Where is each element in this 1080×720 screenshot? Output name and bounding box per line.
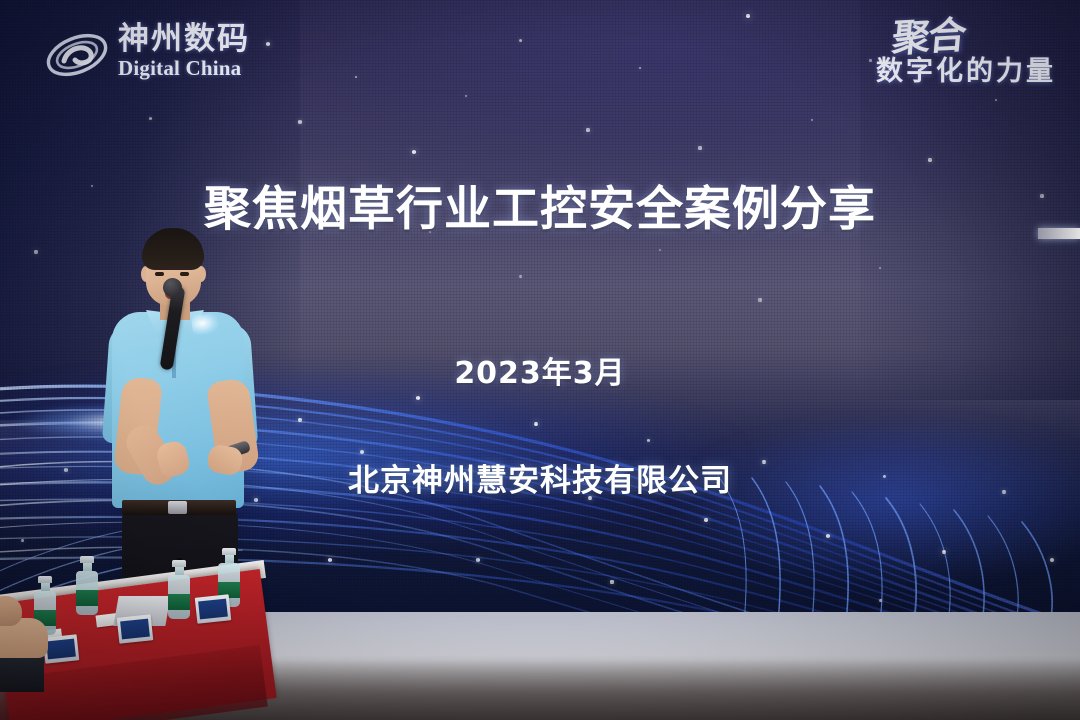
water-bottle-2 (76, 556, 98, 615)
digital-china-logo-text: 神州数码 Digital China (118, 22, 250, 80)
logo-name-en: Digital China (118, 56, 250, 80)
brand-calligraphy: 聚合 (804, 14, 967, 64)
digital-china-swirl-logo-icon (44, 26, 110, 84)
event-brand-top-right: 聚合 数字化的力量 (806, 18, 1056, 122)
name-card-3 (195, 594, 232, 623)
speaker-eye-right (180, 272, 189, 276)
speaker-chest-logo (191, 313, 219, 336)
water-bottle-3 (168, 560, 190, 619)
speaker-eye-left (155, 272, 164, 276)
speaker-belt-buckle (168, 501, 187, 514)
digital-china-logo: 神州数码 Digital China (44, 22, 292, 90)
speaker-hair (142, 228, 204, 270)
foreground-attendee-head (0, 596, 22, 626)
foreground-attendee (0, 596, 64, 686)
name-card-2 (117, 614, 154, 643)
conference-stage-scene: 神州数码 Digital China 聚合 数字化的力量 聚焦烟草行业工控安全案… (0, 0, 1080, 720)
logo-name-cn: 神州数码 (118, 22, 250, 56)
screen-accent-bar (1038, 228, 1080, 239)
